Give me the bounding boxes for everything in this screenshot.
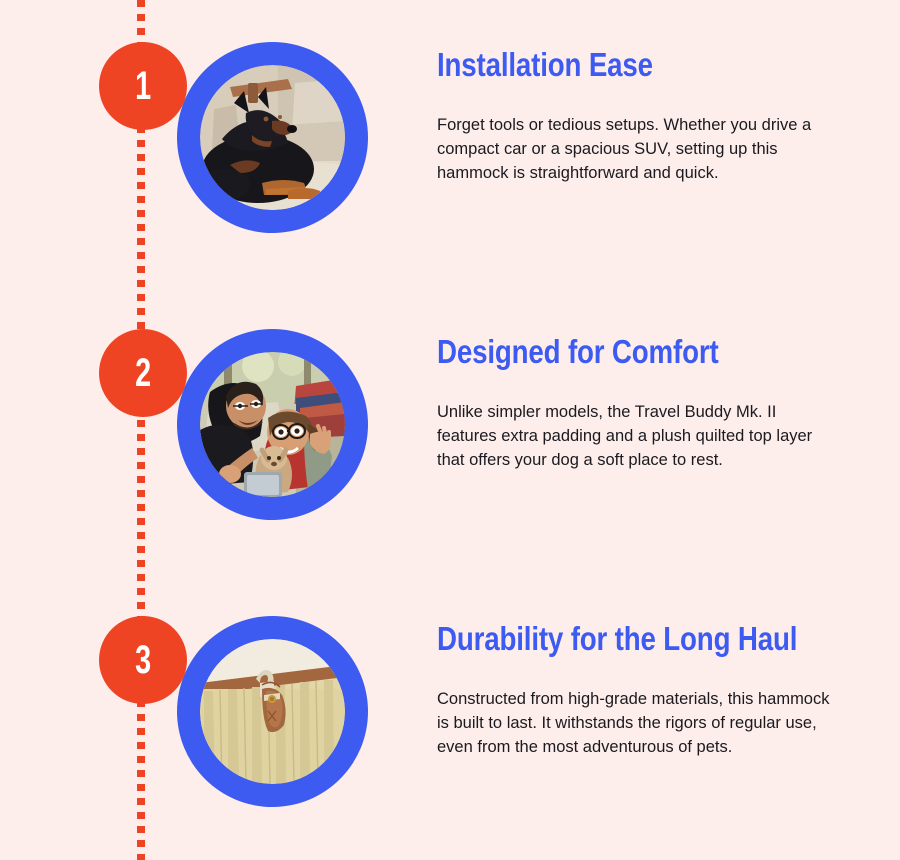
step-title: Installation Ease (437, 48, 773, 83)
step-photo-ring-2 (177, 329, 368, 520)
step-item: 1 (0, 30, 900, 320)
step-text-column: Installation Ease Forget tools or tediou… (437, 30, 837, 185)
step-number-badge-1: 1 (99, 42, 187, 130)
step-text-column: Designed for Comfort Unlike simpler mode… (437, 317, 837, 472)
step-number-label: 3 (135, 640, 151, 680)
step-body-text: Forget tools or tedious setups. Whether … (437, 113, 832, 185)
step-photo-ring-1 (177, 42, 368, 233)
step-title: Durability for the Long Haul (437, 622, 773, 657)
step-photo-ring-3 (177, 616, 368, 807)
step-number-badge-3: 3 (99, 616, 187, 704)
step-number-badge-2: 2 (99, 329, 187, 417)
step-number-label: 2 (135, 353, 151, 393)
quilted-fabric-leather-strap-photo (200, 639, 345, 784)
step-body-text: Unlike simpler models, the Travel Buddy … (437, 400, 832, 472)
step-title: Designed for Comfort (437, 335, 773, 370)
step-text-column: Durability for the Long Haul Constructed… (437, 604, 837, 759)
step-body-text: Constructed from high-grade materials, t… (437, 687, 832, 759)
step-number-label: 1 (135, 66, 151, 106)
step-item: 2 (0, 317, 900, 607)
doberman-in-car-back-seat-photo (200, 65, 345, 210)
steps-list: 1 (0, 0, 900, 860)
couple-selfie-with-dog-photo (200, 352, 345, 497)
step-item: 3 (0, 604, 900, 860)
